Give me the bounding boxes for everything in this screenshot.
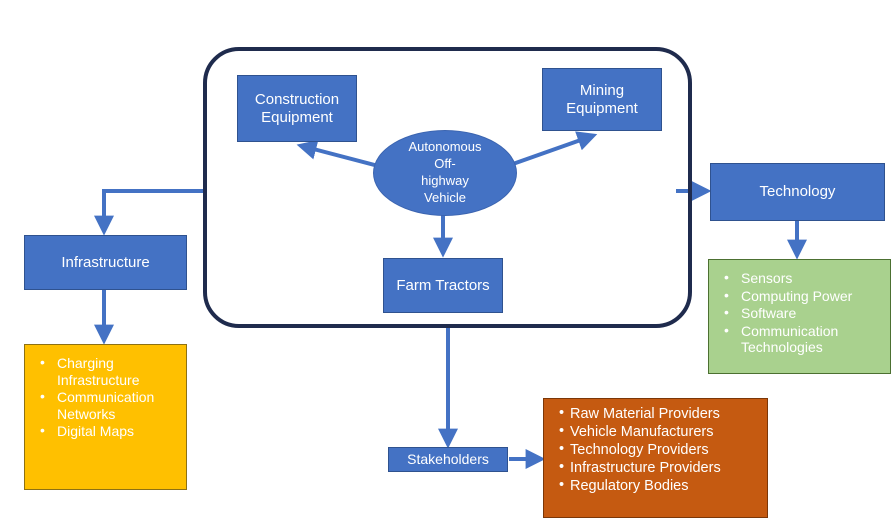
list-item-label: Communication Networks [57, 389, 154, 422]
diagram-canvas: Construction Equipment Mining Equipment … [0, 0, 895, 528]
node-technology-label: Technology [760, 183, 836, 201]
list-item-label: Vehicle Manufacturers [570, 424, 713, 440]
node-farm-tractors[interactable]: Farm Tractors [383, 258, 503, 313]
node-stakeholders-label: Stakeholders [407, 451, 489, 468]
list-item-label: Charging Infrastructure [57, 355, 139, 388]
list-item-label: Raw Material Providers [570, 406, 720, 422]
stakeholders-item-list: • Raw Material Providers • Vehicle Manuf… [554, 406, 757, 496]
technology-item-list: • Sensors • Computing Power • Software •… [719, 270, 880, 356]
list-item: • Vehicle Manufacturers [554, 424, 757, 441]
list-item-label: Regulatory Bodies [570, 478, 689, 494]
node-stakeholders[interactable]: Stakeholders [388, 447, 508, 472]
bullet-icon: • [559, 441, 564, 458]
list-item-label: Infrastructure Providers [570, 460, 721, 476]
list-item-label: Software [741, 305, 796, 321]
bullet-icon: • [559, 477, 564, 494]
list-item: • Raw Material Providers [554, 406, 757, 423]
bullet-icon: • [724, 269, 729, 286]
list-item: • Sensors [719, 270, 880, 287]
list-item: • Communication Technologies [719, 323, 880, 356]
node-autonomous-off-highway-vehicle[interactable]: Autonomous Off- highway Vehicle [373, 130, 517, 216]
list-item-label: Sensors [741, 270, 792, 286]
list-item: • Digital Maps [35, 423, 176, 440]
node-mining-equipment-label: Mining Equipment [566, 82, 638, 117]
bullet-icon: • [40, 422, 45, 439]
bullet-icon: • [559, 405, 564, 422]
node-mining-equipment[interactable]: Mining Equipment [542, 68, 662, 131]
list-item: • Technology Providers [554, 442, 757, 459]
list-item-label: Technology Providers [570, 442, 709, 458]
node-infrastructure[interactable]: Infrastructure [24, 235, 187, 290]
node-infrastructure-label: Infrastructure [61, 254, 149, 272]
list-item-label: Communication Technologies [741, 323, 838, 356]
list-item: • Infrastructure Providers [554, 460, 757, 477]
list-item: • Computing Power [719, 288, 880, 305]
infrastructure-item-list: • Charging Infrastructure • Communicatio… [35, 355, 176, 440]
list-infrastructure-items: • Charging Infrastructure • Communicatio… [24, 344, 187, 490]
bullet-icon: • [40, 388, 45, 405]
bullet-icon: • [724, 304, 729, 321]
bullet-icon: • [724, 287, 729, 304]
node-construction-equipment[interactable]: Construction Equipment [237, 75, 357, 142]
list-technology-items: • Sensors • Computing Power • Software •… [708, 259, 891, 374]
list-stakeholder-items: • Raw Material Providers • Vehicle Manuf… [543, 398, 768, 518]
list-item-label: Computing Power [741, 288, 852, 304]
list-item: • Software [719, 305, 880, 322]
bullet-icon: • [559, 423, 564, 440]
list-item: • Communication Networks [35, 389, 176, 422]
bullet-icon: • [40, 354, 45, 371]
node-technology[interactable]: Technology [710, 163, 885, 221]
bullet-icon: • [724, 322, 729, 339]
edge-frame-to-infrastructure [104, 191, 205, 230]
list-item: • Charging Infrastructure [35, 355, 176, 388]
list-item-label: Digital Maps [57, 423, 134, 439]
list-item: • Regulatory Bodies [554, 478, 757, 495]
node-construction-equipment-label: Construction Equipment [255, 91, 339, 126]
node-farm-tractors-label: Farm Tractors [396, 277, 489, 295]
node-center-label: Autonomous Off- highway Vehicle [409, 139, 482, 207]
bullet-icon: • [559, 459, 564, 476]
